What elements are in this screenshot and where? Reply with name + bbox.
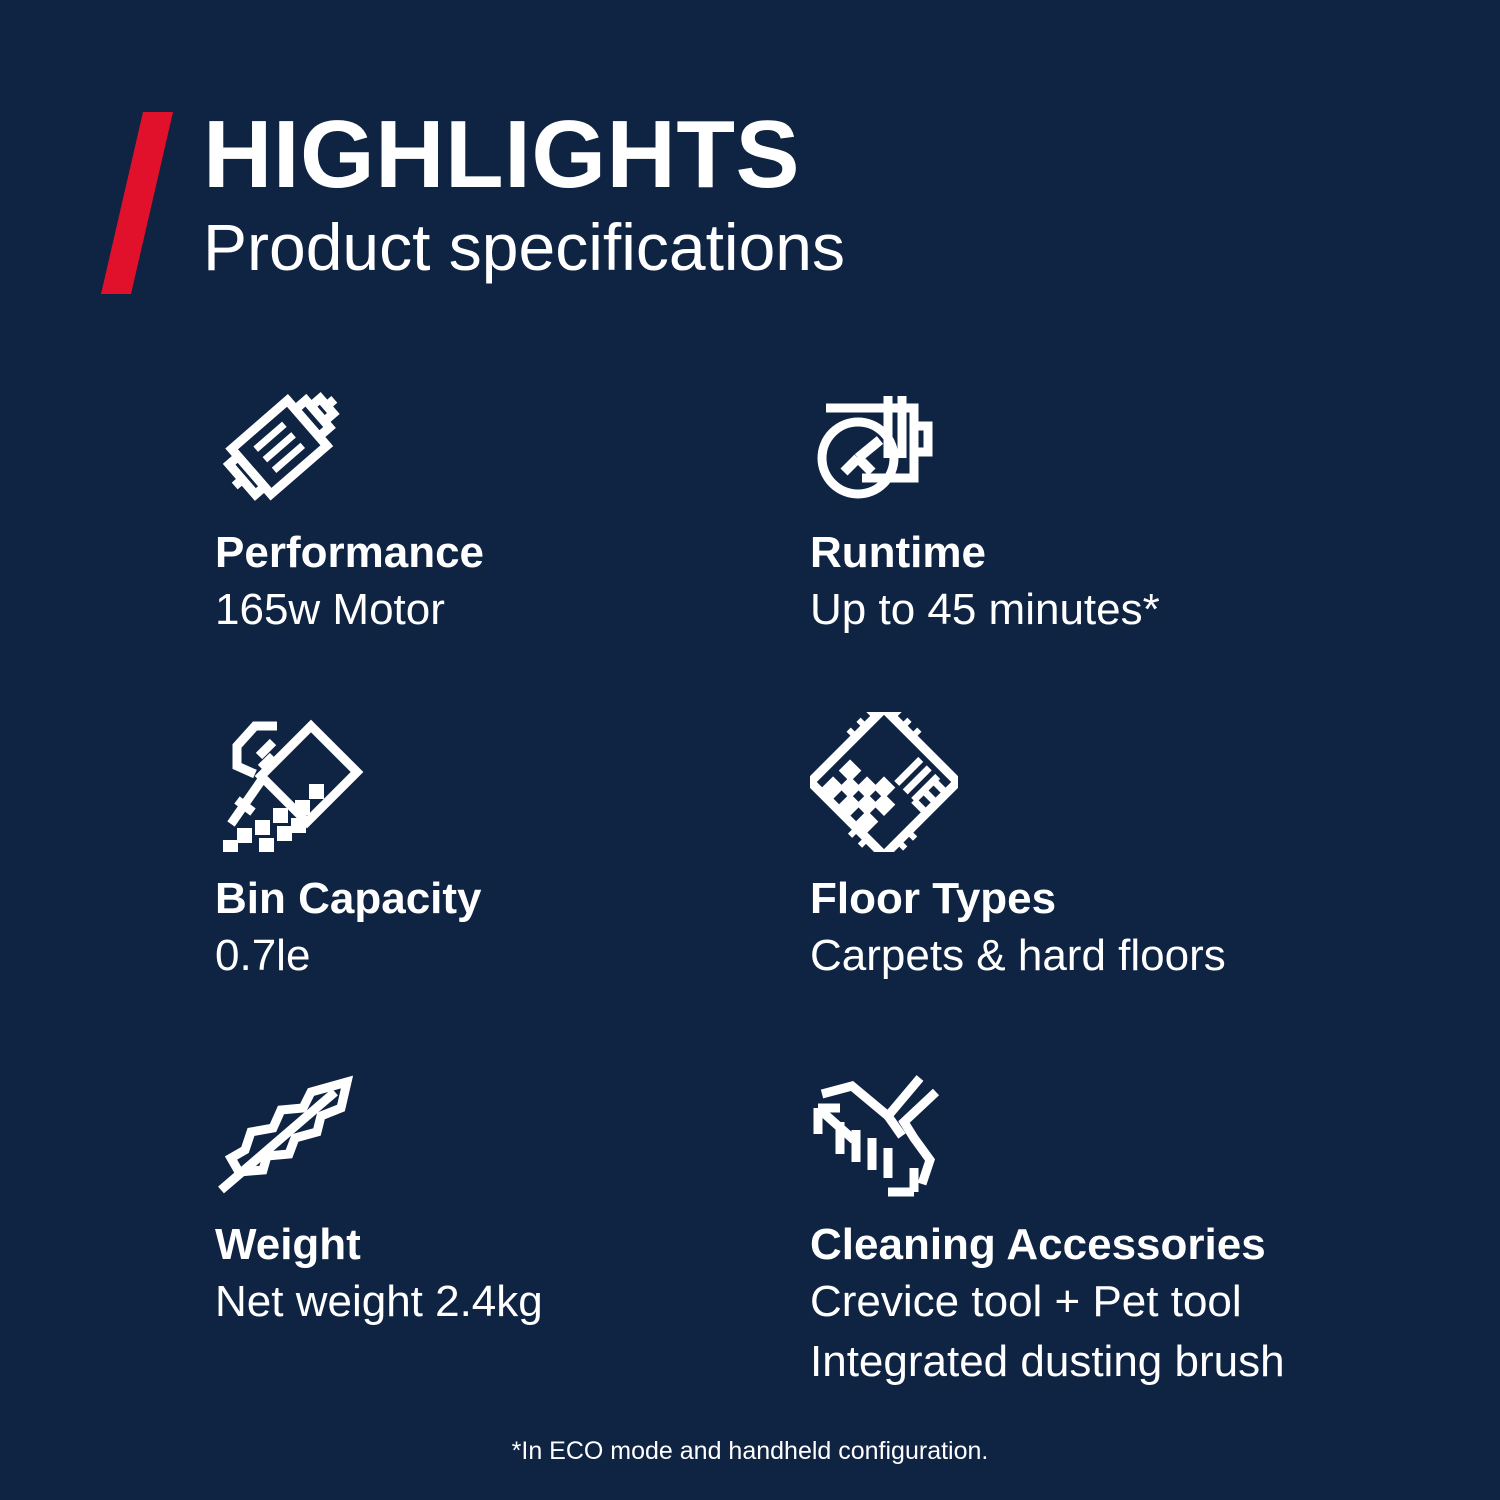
header: HIGHLIGHTS Product specifications — [95, 112, 845, 294]
spec-value: Up to 45 minutes* — [810, 583, 1420, 637]
spec-item-runtime: Runtime Up to 45 minutes* — [810, 382, 1420, 712]
floor-types-icon — [810, 712, 1420, 852]
spec-value: Crevice tool + Pet tool — [810, 1275, 1420, 1329]
spec-value: 0.7le — [215, 929, 810, 983]
battery-clock-icon — [810, 382, 1420, 506]
spec-value: Net weight 2.4kg — [215, 1275, 810, 1329]
spec-title: Bin Capacity — [215, 874, 810, 923]
spec-item-weight: Weight Net weight 2.4kg — [215, 1074, 810, 1389]
spec-value: 165w Motor — [215, 583, 810, 637]
spec-title: Runtime — [810, 528, 1420, 577]
highlights-infographic: HIGHLIGHTS Product specifications — [0, 0, 1500, 1500]
accent-slash-icon — [95, 112, 167, 294]
spec-value-secondary: Integrated dusting brush — [810, 1335, 1420, 1389]
page-subtitle: Product specifications — [203, 210, 845, 286]
feather-icon — [215, 1074, 810, 1198]
dust-bin-empty-icon — [215, 712, 810, 852]
spec-title: Performance — [215, 528, 810, 577]
spec-grid: Performance 165w Motor — [215, 382, 1420, 1389]
spec-title: Cleaning Accessories — [810, 1220, 1420, 1269]
header-text: HIGHLIGHTS Product specifications — [203, 106, 845, 286]
motor-icon — [215, 382, 810, 506]
cleaning-tools-icon — [810, 1074, 1420, 1198]
footnote: *In ECO mode and handheld configuration. — [0, 1437, 1500, 1466]
spec-item-performance: Performance 165w Motor — [215, 382, 810, 712]
spec-item-floor-types: Floor Types Carpets & hard floors — [810, 712, 1420, 1074]
spec-title: Weight — [215, 1220, 810, 1269]
page-title: HIGHLIGHTS — [203, 106, 845, 204]
spec-item-cleaning-accessories: Cleaning Accessories Crevice tool + Pet … — [810, 1074, 1420, 1389]
spec-item-bin-capacity: Bin Capacity 0.7le — [215, 712, 810, 1074]
spec-title: Floor Types — [810, 874, 1420, 923]
spec-value: Carpets & hard floors — [810, 929, 1420, 983]
